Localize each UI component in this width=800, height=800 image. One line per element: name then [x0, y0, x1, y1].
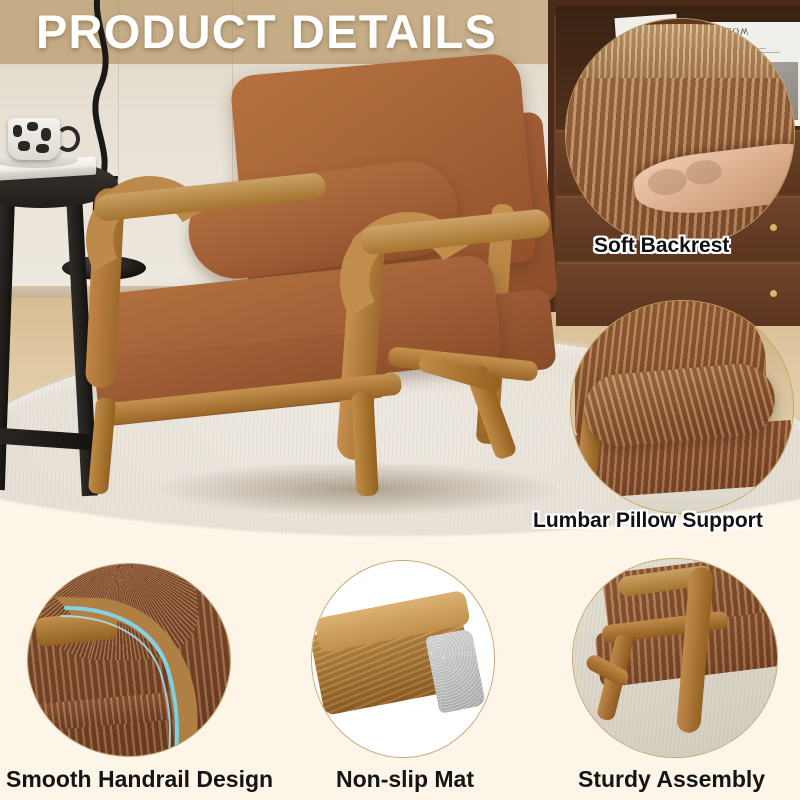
callout-soft-backrest: FOLLOW	[565, 18, 795, 248]
lumbar-pillow-image	[571, 301, 793, 513]
accent-chair	[88, 62, 558, 492]
handrail-image	[28, 564, 230, 756]
label-soft-backrest: Soft Backrest	[594, 234, 729, 258]
chair-front-right-leg	[351, 391, 378, 496]
feature-smooth-handrail-design	[27, 563, 231, 757]
label-smooth-handrail-design: Smooth Handrail Design	[6, 766, 273, 793]
feature-sturdy-assembly	[572, 558, 778, 758]
callout-lumbar-pillow-support	[570, 300, 794, 514]
page-title: PRODUCT DETAILS	[36, 4, 497, 59]
label-sturdy-assembly: Sturdy Assembly	[578, 766, 765, 793]
chair-front-left-leg	[88, 397, 116, 494]
label-non-slip-mat: Non-slip Mat	[336, 766, 474, 793]
non-slip-mat-image	[312, 561, 494, 757]
smooth-curve-highlight-icon	[28, 564, 230, 756]
backrest-top-edge	[565, 24, 795, 79]
coffee-mug	[8, 118, 60, 160]
sturdy-assembly-image	[573, 559, 777, 757]
label-lumbar-pillow-support: Lumbar Pillow Support	[533, 509, 763, 533]
mug-handle	[56, 126, 80, 152]
product-details-infographic: FOLLOW	[0, 0, 800, 800]
drawer-knob	[770, 290, 777, 297]
feature-non-slip-mat	[311, 560, 495, 758]
soft-backrest-image: FOLLOW	[566, 19, 794, 247]
